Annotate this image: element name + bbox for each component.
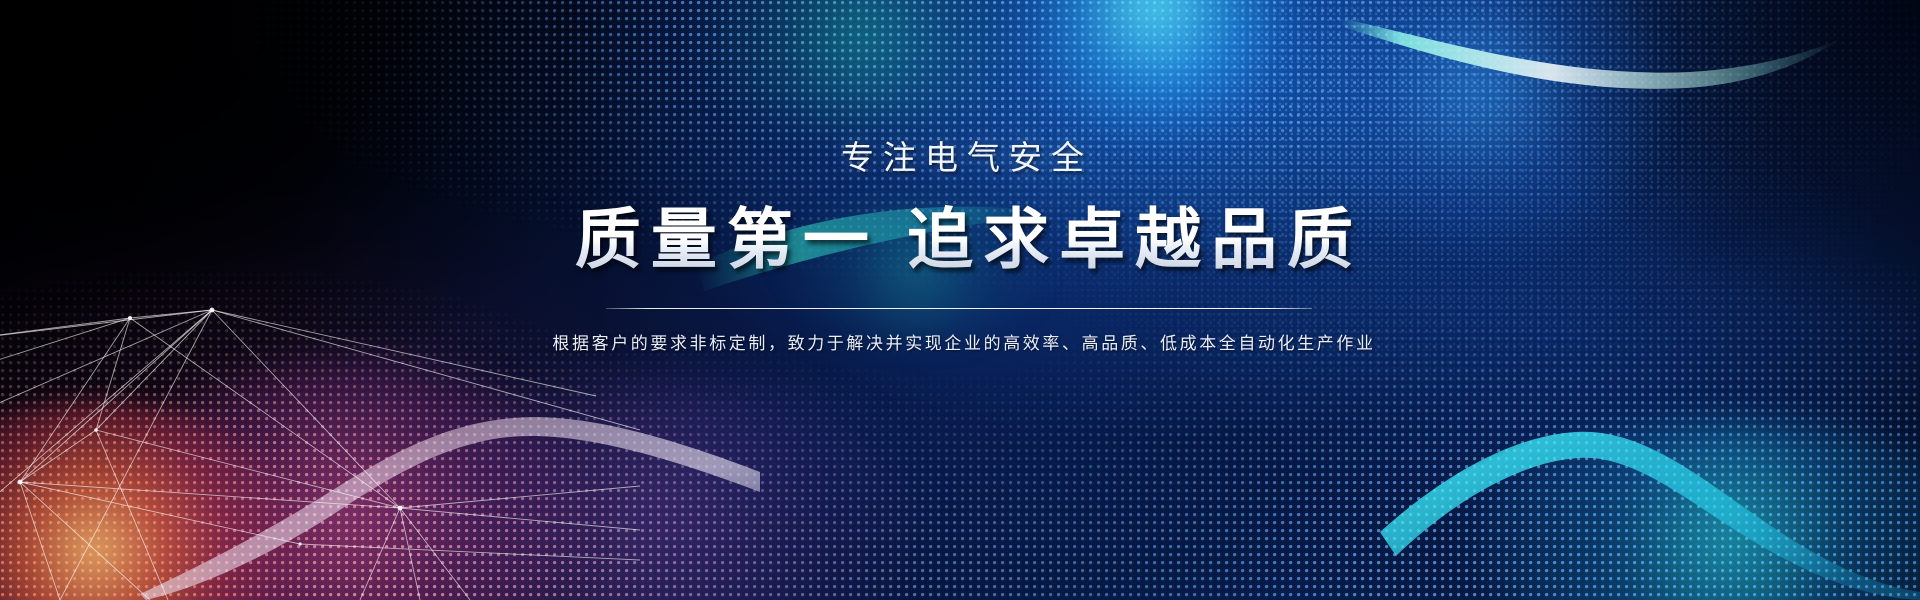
banner-headline: 质量第一 追求卓越品质 — [255, 202, 1665, 277]
banner-text-block: 专注电气安全 质量第一 追求卓越品质 根据客户的要求非标定制，致力于解决并实现企… — [0, 140, 1920, 354]
banner-eyebrow: 专注电气安全 — [255, 140, 1665, 176]
hero-banner: 专注电气安全 质量第一 追求卓越品质 根据客户的要求非标定制，致力于解决并实现企… — [0, 0, 1920, 600]
divider — [606, 308, 1312, 309]
banner-subtitle: 根据客户的要求非标定制，致力于解决并实现企业的高效率、高品质、低成本全自动化生产… — [255, 329, 1665, 354]
